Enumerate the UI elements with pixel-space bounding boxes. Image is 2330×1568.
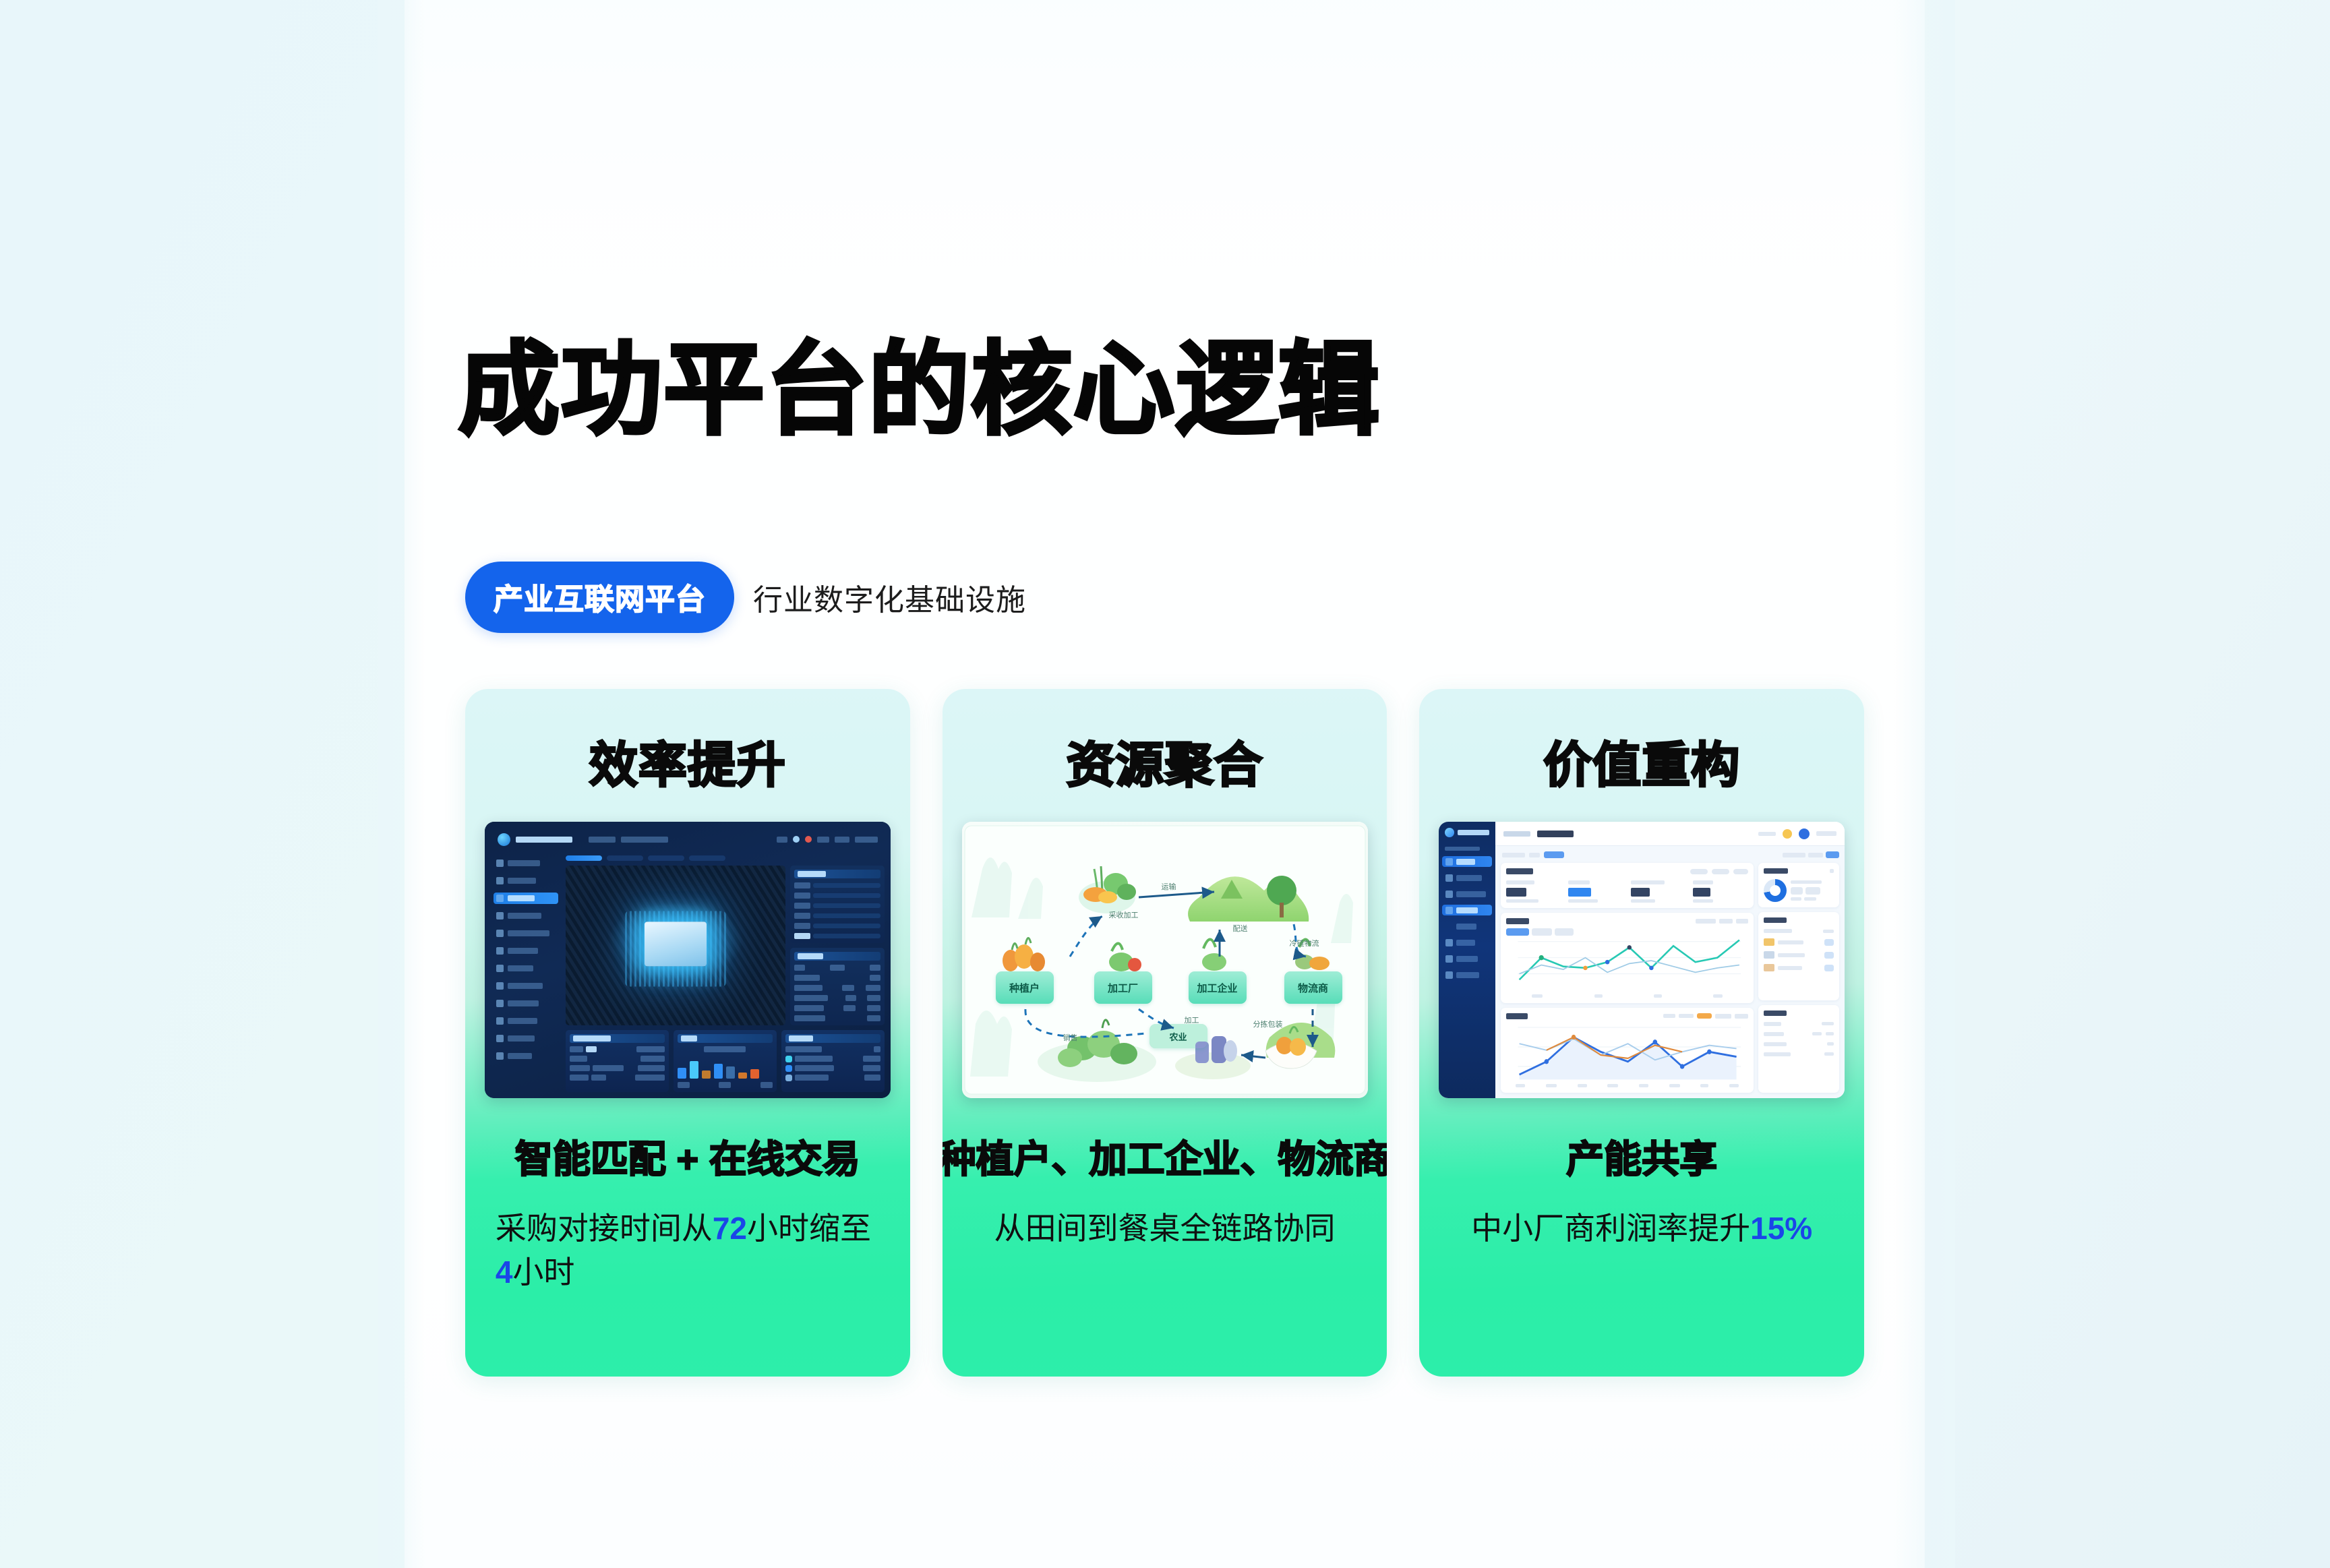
gauge-card: [1758, 863, 1839, 907]
status-block: [777, 837, 787, 843]
sidebar-item[interactable]: [494, 998, 558, 1009]
dashboard-topbar: [491, 828, 885, 851]
edge-label: 运输: [1162, 881, 1176, 892]
chart-tab[interactable]: [1532, 928, 1552, 936]
menu-icon: [496, 912, 504, 919]
sidebar-item[interactable]: [1442, 888, 1492, 899]
kpi-card: [1501, 863, 1754, 908]
menu-icon: [496, 1017, 504, 1025]
tab[interactable]: [689, 855, 725, 861]
avatar[interactable]: [1799, 828, 1810, 839]
settings-block[interactable]: [835, 837, 849, 843]
metric-row: [794, 913, 880, 919]
card-description: 从田间到餐桌全链路协同: [973, 1207, 1357, 1250]
list-item[interactable]: [1764, 951, 1834, 959]
sidebar-item[interactable]: [494, 1050, 558, 1062]
list-item[interactable]: [1764, 1042, 1834, 1046]
list-item[interactable]: [1764, 964, 1834, 971]
panel-header: [678, 1034, 773, 1043]
cpu-chip-illustration: [566, 866, 785, 1025]
edge-label: 配送: [1233, 923, 1248, 934]
tab-active[interactable]: [566, 855, 602, 861]
account-block[interactable]: [855, 837, 878, 843]
card-heading: 种植户、加工企业、物流商: [943, 1129, 1387, 1184]
node-processor: 加工厂: [1094, 971, 1152, 1004]
figure-dark-chip-dashboard: [485, 822, 891, 1098]
panel-header: [785, 1034, 880, 1043]
category-badge: 产业互联网平台: [465, 562, 734, 633]
desc-prefix: 从田间到餐桌全链路协同: [994, 1211, 1336, 1246]
panel-left-fade: [378, 0, 425, 1568]
menu-icon: [496, 947, 504, 955]
card-description: 采购对接时间从72小时缩至4小时: [496, 1207, 880, 1295]
sidebar-item[interactable]: [1442, 953, 1492, 964]
metric-row-active: [794, 933, 880, 939]
edge-label: 加工: [1185, 1015, 1199, 1025]
sidebar-item[interactable]: [1442, 921, 1492, 932]
tab[interactable]: [607, 855, 643, 861]
card-heading: 智能匹配 + 在线交易: [515, 1129, 860, 1184]
sidebar-item-active[interactable]: [1442, 856, 1492, 867]
feature-card-list: 效率提升: [465, 689, 1864, 1377]
page-subtitle: 行业数字化基础设施: [753, 576, 1026, 619]
edge-label: 分拣包装: [1253, 1019, 1283, 1029]
desc-highlight-1: 15%: [1750, 1211, 1812, 1246]
feature-card-efficiency[interactable]: 效率提升: [465, 689, 910, 1377]
dashboard-tabs[interactable]: [566, 855, 885, 861]
table-panel: [790, 948, 885, 1025]
card-title: 效率提升: [589, 725, 786, 796]
filter-tab-active[interactable]: [1544, 851, 1564, 858]
table-row: [794, 995, 880, 1001]
figure-agri-supply-chain: 种植户 加工厂 加工企业 物流商 农业 运输 采收加工 配送 冷链物流 分拣包装…: [962, 822, 1368, 1098]
analytics-sidebar[interactable]: [1439, 822, 1495, 1098]
desc-prefix: 采购对接时间从: [496, 1211, 713, 1246]
desc-highlight-1: 72: [713, 1211, 747, 1246]
page-title: 成功平台的核心逻辑: [458, 337, 1381, 444]
table-row: [794, 1015, 880, 1021]
card-description: 中小厂商利润率提升15%: [1450, 1207, 1834, 1250]
sidebar-item[interactable]: [494, 875, 558, 886]
list-card-1: [1758, 912, 1839, 1000]
panel-header: [794, 870, 880, 878]
supply-chain-svg: [962, 822, 1368, 1098]
desc-highlight-2: 4: [496, 1255, 513, 1290]
sidebar-item[interactable]: [494, 980, 558, 992]
logo-icon: [1445, 828, 1454, 837]
menu-icon: [496, 1035, 504, 1042]
table-head: [794, 965, 880, 971]
line-chart-card-2: [1501, 1008, 1754, 1093]
kpi-item: [1506, 880, 1561, 903]
table-row: [794, 1005, 880, 1011]
sidebar-item[interactable]: [1442, 969, 1492, 980]
kpi-item: [1693, 880, 1748, 903]
list-item[interactable]: [1764, 938, 1834, 946]
table-row: [794, 975, 880, 981]
chart-tab-active[interactable]: [1506, 928, 1529, 936]
sidebar-item[interactable]: [494, 945, 558, 957]
sidebar-item[interactable]: [494, 928, 558, 939]
brand-text-block: [516, 837, 572, 843]
notification-icon[interactable]: [1783, 829, 1792, 839]
logo-icon: [498, 833, 510, 846]
edge-label: 冷链物流: [1290, 938, 1319, 948]
sidebar-item[interactable]: [494, 1015, 558, 1027]
panel-header: [794, 952, 880, 961]
metric-row: [794, 903, 880, 909]
bottom-panel-right: [781, 1030, 885, 1092]
chart-tab[interactable]: [1555, 928, 1574, 936]
node-logistics: 物流商: [1284, 971, 1342, 1004]
metric-row: [794, 923, 880, 929]
menu-icon: [496, 895, 504, 902]
metrics-panel: [790, 866, 885, 943]
card-title: 资源聚合: [1067, 725, 1263, 796]
section-label: [1445, 847, 1480, 851]
menu-icon: [496, 965, 504, 972]
bell-icon[interactable]: [793, 836, 800, 843]
node-grower: 种植户: [996, 971, 1054, 1004]
sidebar-item[interactable]: [494, 1033, 558, 1044]
meta-block: [1758, 832, 1776, 836]
alert-icon[interactable]: [805, 836, 812, 843]
node-agriculture: 农业: [1149, 1024, 1207, 1048]
chart-area: [1506, 1019, 1748, 1083]
sidebar-item[interactable]: [1442, 937, 1492, 948]
sidebar-item-active[interactable]: [494, 893, 558, 904]
menu-icon: [496, 930, 504, 937]
chart-area: [1506, 936, 1748, 993]
subtitle-row: 产业互联网平台 行业数字化基础设施: [465, 562, 1026, 633]
list-item[interactable]: [1764, 1032, 1834, 1036]
figure-light-analytics-dashboard: [1439, 822, 1845, 1098]
dashboard-sidebar[interactable]: [491, 855, 561, 1092]
menu-icon: [496, 1052, 504, 1060]
sidebar-item[interactable]: [494, 963, 558, 974]
list-item[interactable]: [1764, 1052, 1834, 1056]
sidebar-item[interactable]: [494, 857, 558, 869]
menu-icon: [496, 860, 504, 867]
metric-row: [794, 882, 880, 888]
menu-icon: [496, 982, 504, 990]
panel-header: [570, 1034, 665, 1043]
donut-chart: [1764, 879, 1787, 902]
nav-text-block: [621, 837, 668, 843]
sidebar-item[interactable]: [494, 910, 558, 922]
panel-right-fade: [1894, 0, 1955, 1568]
kpi-item: [1568, 880, 1623, 903]
breadcrumb: [1503, 831, 1530, 837]
menu-icon: [496, 1000, 504, 1007]
metric-row: [794, 893, 880, 899]
edge-label: 采收加工: [1109, 909, 1139, 920]
analytics-topbar: [1495, 822, 1845, 846]
tab[interactable]: [648, 855, 684, 861]
feature-card-value[interactable]: 价值重构: [1419, 689, 1864, 1377]
bottom-panel-left: [566, 1030, 669, 1092]
brand-text-block: [1458, 830, 1489, 835]
username-block: [1816, 831, 1836, 836]
desc-suffix: 小时: [512, 1255, 574, 1290]
menu-icon: [496, 877, 504, 884]
list-card-2: [1758, 1005, 1839, 1093]
sidebar-item-active[interactable]: [1442, 905, 1492, 915]
feature-card-resource[interactable]: 资源聚合: [943, 689, 1387, 1377]
line-chart-card-1: [1501, 913, 1754, 1003]
sidebar-item[interactable]: [1442, 872, 1492, 883]
bottom-panel-mid: [674, 1030, 777, 1092]
table-row: [794, 985, 880, 991]
user-block[interactable]: [817, 837, 829, 843]
desc-mid: 小时缩至: [747, 1211, 871, 1246]
nav-text-block: [589, 837, 616, 843]
page-title-block: [1537, 831, 1574, 837]
edge-label: 销售: [1063, 1032, 1078, 1043]
right-tab-active[interactable]: [1826, 851, 1839, 858]
card-heading: 产能共享: [1566, 1129, 1717, 1184]
node-enterprise: 加工企业: [1189, 971, 1247, 1004]
desc-prefix: 中小厂商利润率提升: [1471, 1211, 1750, 1246]
chip-pins: [625, 911, 726, 986]
card-title: 价值重构: [1543, 725, 1740, 796]
kpi-item: [1631, 880, 1686, 903]
